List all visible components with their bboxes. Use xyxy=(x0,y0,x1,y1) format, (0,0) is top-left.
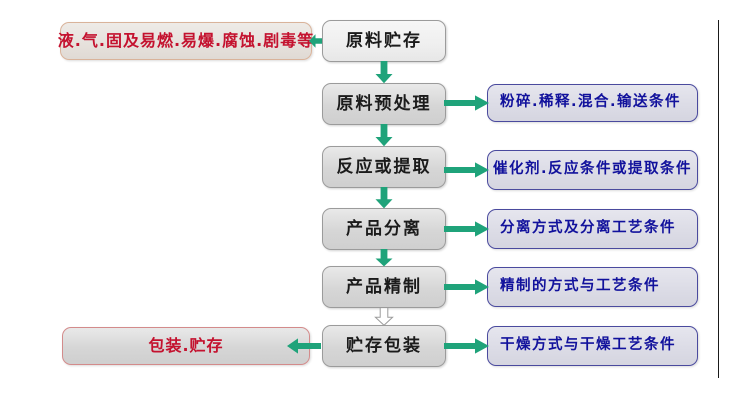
arrow-packaging-to-right-note xyxy=(444,337,490,355)
right-note-pretreat-conditions-label: 粉碎.稀释.混合.输送条件 xyxy=(500,95,681,111)
arrow-reaction-to-separation xyxy=(374,187,394,209)
arrow-refining-to-packaging xyxy=(373,307,395,326)
arrow-reaction-to-right-note xyxy=(444,161,490,179)
arrow-storage-to-pretreat xyxy=(374,61,394,84)
process-reaction-or-extraction-label: 反应或提取 xyxy=(337,158,432,177)
right-note-separation-conditions-label: 分离方式及分离工艺条件 xyxy=(500,221,676,237)
process-product-refining[interactable]: 产品精制 xyxy=(322,266,446,308)
arrow-refining-to-right-note xyxy=(444,278,490,296)
process-raw-material-pretreat[interactable]: 原料预处理 xyxy=(322,83,446,125)
left-note-hazard-classes-label: 液.气.固及易燃.易爆.腐蚀.剧毒等 xyxy=(58,32,314,50)
arrow-separation-to-refining xyxy=(374,249,394,267)
right-note-refining-conditions-label: 精制的方式与工艺条件 xyxy=(500,279,660,295)
process-raw-material-storage[interactable]: 原料贮存 xyxy=(322,20,446,62)
process-product-refining-label: 产品精制 xyxy=(346,278,422,297)
process-reaction-or-extraction[interactable]: 反应或提取 xyxy=(322,146,446,188)
right-note-pretreat-conditions[interactable]: 粉碎.稀释.混合.输送条件 xyxy=(487,84,698,122)
left-note-packaging-storage[interactable]: 包装.贮存 xyxy=(62,327,310,365)
right-edge-rule xyxy=(718,20,719,378)
process-storage-and-packaging-label: 贮存包装 xyxy=(346,337,422,356)
arrow-separation-to-right-note xyxy=(444,220,490,238)
right-note-separation-conditions[interactable]: 分离方式及分离工艺条件 xyxy=(487,209,698,249)
process-raw-material-pretreat-label: 原料预处理 xyxy=(337,95,432,114)
arrow-pretreat-to-reaction xyxy=(374,124,394,147)
right-note-drying-conditions-label: 干燥方式与干燥工艺条件 xyxy=(500,338,676,354)
process-product-separation-label: 产品分离 xyxy=(346,220,422,239)
right-note-reaction-conditions-label: 催化剂.反应条件或提取条件 xyxy=(493,162,692,178)
process-storage-and-packaging[interactable]: 贮存包装 xyxy=(322,325,446,367)
process-raw-material-storage-label: 原料贮存 xyxy=(346,32,422,51)
right-note-refining-conditions[interactable]: 精制的方式与工艺条件 xyxy=(487,267,698,307)
flowchart-canvas: 液.气.固及易燃.易爆.腐蚀.剧毒等 原料贮存 原料预处理 反应或提取 产品分离… xyxy=(0,0,756,405)
right-note-drying-conditions[interactable]: 干燥方式与干燥工艺条件 xyxy=(487,326,698,366)
left-note-hazard-classes[interactable]: 液.气.固及易燃.易爆.腐蚀.剧毒等 xyxy=(60,22,312,60)
left-note-packaging-storage-label: 包装.贮存 xyxy=(148,337,223,355)
arrow-packaging-to-left-note xyxy=(286,337,322,355)
right-note-reaction-conditions[interactable]: 催化剂.反应条件或提取条件 xyxy=(487,150,698,190)
arrow-pretreat-to-right-note xyxy=(444,94,490,112)
process-product-separation[interactable]: 产品分离 xyxy=(322,208,446,250)
